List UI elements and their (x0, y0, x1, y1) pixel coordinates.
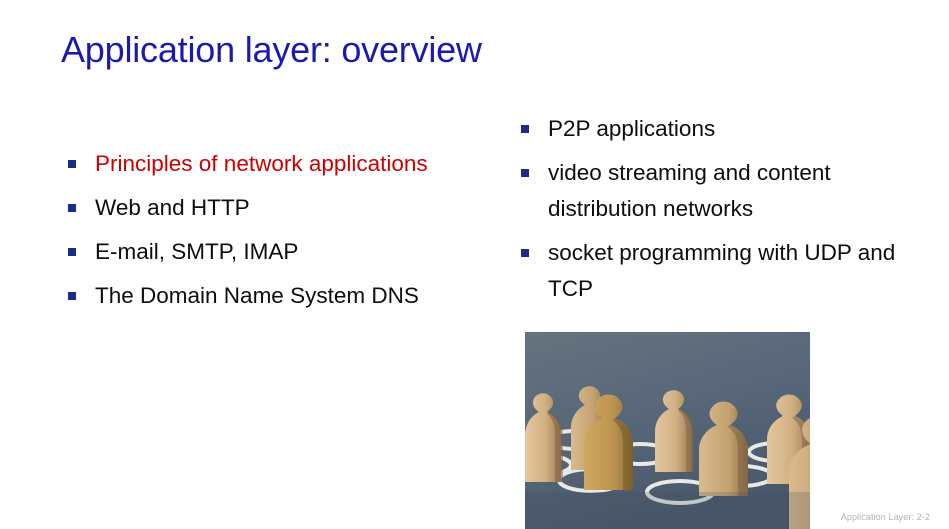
bullet-label: E-mail, SMTP, IMAP (95, 239, 298, 264)
left-bullet-column: Principles of network applications Web a… (62, 146, 462, 322)
right-bullet-column: P2P applications video streaming and con… (515, 111, 935, 315)
bullet-label: P2P applications (548, 116, 715, 141)
bullet-item-p2p: P2P applications (515, 111, 935, 147)
bullet-square-icon (521, 125, 529, 133)
bullet-item-dns: The Domain Name System DNS (62, 278, 462, 314)
slide-canvas: Application layer: overview Principles o… (0, 0, 949, 529)
bullet-square-icon (521, 169, 529, 177)
slide-footer: Application Layer: 2-2 (841, 511, 930, 523)
bullet-label: Principles of network applications (95, 151, 428, 176)
bullet-square-icon (68, 204, 76, 212)
bullet-square-icon (68, 292, 76, 300)
page-title: Application layer: overview (61, 28, 482, 72)
bullet-item-web-http: Web and HTTP (62, 190, 462, 226)
network-photo-illustration (525, 332, 810, 529)
bullet-item-video-streaming: video streaming and content distribution… (515, 155, 935, 227)
bullet-label: video streaming and content distribution… (548, 160, 831, 221)
bullet-label: Web and HTTP (95, 195, 250, 220)
bullet-square-icon (521, 249, 529, 257)
bullet-item-socket-programming: socket programming with UDP and TCP (515, 235, 935, 307)
bullet-item-principles: Principles of network applications (62, 146, 462, 182)
bullet-label: The Domain Name System DNS (95, 283, 419, 308)
bullet-item-email: E-mail, SMTP, IMAP (62, 234, 462, 270)
bullet-label: socket programming with UDP and TCP (548, 240, 895, 301)
bullet-square-icon (68, 160, 76, 168)
bullet-square-icon (68, 248, 76, 256)
network-photo (525, 332, 810, 529)
